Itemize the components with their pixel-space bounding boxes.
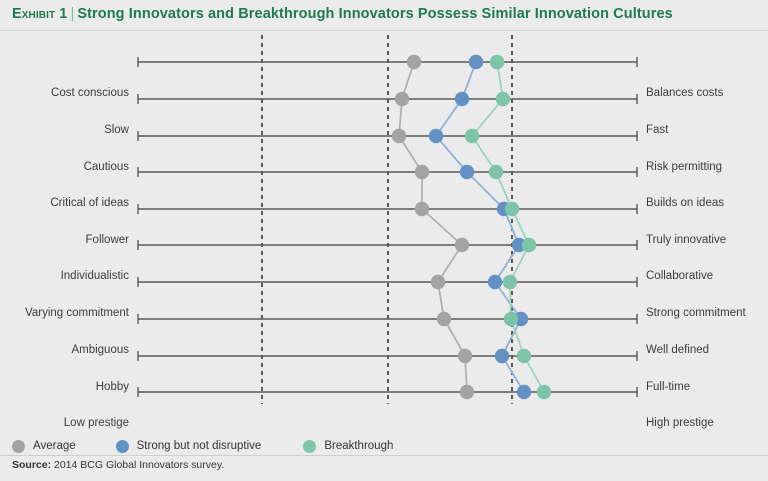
right-label-7: Well defined [646,345,709,357]
datapoint-average-5 [455,238,469,252]
title-divider [0,30,768,31]
datapoint-breakthrough-4 [505,202,519,216]
legend-dot-breakthrough-icon [303,440,316,453]
right-label-4: Truly innovative [646,235,726,247]
datapoint-strong-but-not-disruptive-3 [460,165,474,179]
left-label-4: Follower [86,235,129,247]
legend-item-average[interactable]: Average [12,440,76,453]
legend: AverageStrong but not disruptiveBreakthr… [12,436,393,456]
right-label-0: Balances costs [646,88,723,100]
right-label-1: Fast [646,125,668,137]
right-label-9: High prestige [646,418,714,430]
legend-label-strong: Strong but not disruptive [137,440,262,452]
left-label-2: Cautious [84,162,129,174]
datapoint-average-9 [460,385,474,399]
datapoint-breakthrough-5 [522,238,536,252]
datapoint-breakthrough-3 [489,165,503,179]
datapoint-strong-but-not-disruptive-8 [495,349,509,363]
datapoint-breakthrough-0 [490,55,504,69]
datapoint-strong-but-not-disruptive-2 [429,129,443,143]
legend-label-breakthrough: Breakthrough [324,440,393,452]
datapoint-breakthrough-8 [517,349,531,363]
datapoint-strong-but-not-disruptive-0 [469,55,483,69]
legend-label-average: Average [33,440,76,452]
right-label-5: Collaborative [646,271,713,283]
datapoint-breakthrough-7 [504,312,518,326]
source-note: Source: 2014 BCG Global Innovators surve… [12,459,224,471]
left-label-0: Cost conscious [51,88,129,100]
right-label-6: Strong commitment [646,308,746,320]
datapoint-average-3 [415,165,429,179]
left-label-6: Varying commitment [25,308,129,320]
datapoint-average-0 [407,55,421,69]
left-label-3: Critical of ideas [50,198,129,210]
right-label-2: Risk permitting [646,162,722,174]
left-label-1: Slow [104,125,129,137]
left-label-7: Ambiguous [71,345,129,357]
page-title: Exhibit 1|Strong Innovators and Breakthr… [12,6,673,22]
datapoint-average-2 [392,129,406,143]
left-label-5: Individualistic [61,271,129,283]
left-label-8: Hobby [96,382,129,394]
datapoint-breakthrough-2 [465,129,479,143]
source-label: Source: [12,459,51,471]
chart-root: Exhibit 1|Strong Innovators and Breakthr… [0,0,768,481]
datapoint-strong-but-not-disruptive-1 [455,92,469,106]
source-divider [0,455,768,456]
legend-dot-average-icon [12,440,25,453]
datapoint-average-8 [458,349,472,363]
series-line-strong-but-not-disruptive [436,62,524,392]
legend-dot-strong-icon [116,440,129,453]
datapoint-breakthrough-1 [496,92,510,106]
datapoint-strong-but-not-disruptive-6 [488,275,502,289]
datapoint-average-6 [431,275,445,289]
legend-item-strong[interactable]: Strong but not disruptive [116,440,262,453]
datapoint-average-7 [437,312,451,326]
left-label-9: Low prestige [64,418,129,430]
title-separator: | [67,6,77,22]
right-label-3: Builds on ideas [646,198,724,210]
datapoint-average-4 [415,202,429,216]
legend-item-breakthrough[interactable]: Breakthrough [303,440,393,453]
exhibit-number: Exhibit 1 [12,6,67,22]
datapoint-strong-but-not-disruptive-9 [517,385,531,399]
title-text: Strong Innovators and Breakthrough Innov… [77,6,672,22]
datapoint-breakthrough-9 [537,385,551,399]
datapoint-breakthrough-6 [503,275,517,289]
right-label-8: Full-time [646,382,690,394]
datapoint-average-1 [395,92,409,106]
series-line-average [399,62,467,392]
source-text: 2014 BCG Global Innovators survey. [51,459,224,471]
